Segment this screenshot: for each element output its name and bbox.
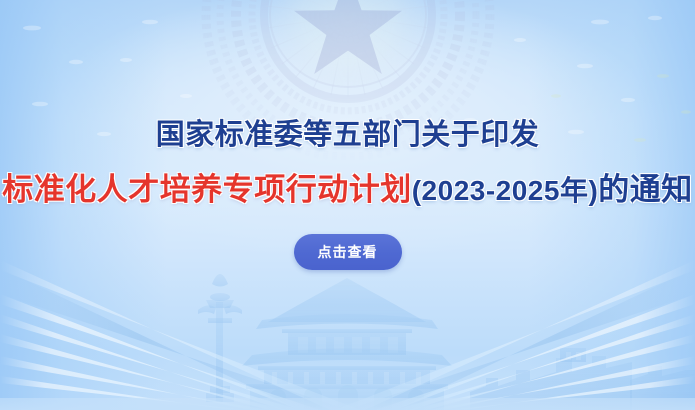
banner-title-suffix: 的通知 (598, 172, 693, 207)
click-to-view-button[interactable]: 点击查看 (294, 234, 402, 270)
notice-banner: 国家标准委等五部门关于印发 标准化人才培养专项行动计划(2023-2025年)的… (0, 0, 695, 410)
banner-content: 国家标准委等五部门关于印发 标准化人才培养专项行动计划(2023-2025年)的… (0, 0, 695, 410)
banner-title-year-range: (2023-2025年) (412, 175, 599, 206)
banner-title-line-2: 标准化人才培养专项行动计划(2023-2025年)的通知 (2, 174, 693, 205)
banner-title-plan-name: 标准化人才培养专项行动计划 (2, 172, 412, 207)
banner-title-line-1: 国家标准委等五部门关于印发 (156, 121, 540, 150)
